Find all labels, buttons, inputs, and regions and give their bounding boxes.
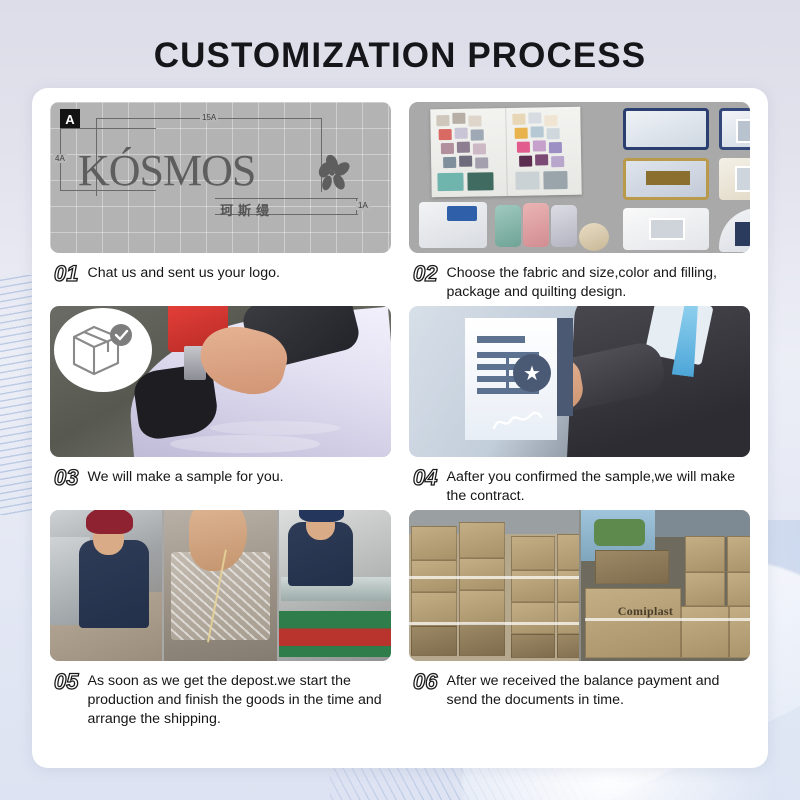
- signature-icon: [491, 410, 543, 434]
- step-caption: 06 After we received the balance payment…: [409, 661, 750, 710]
- process-step-01[interactable]: A 15A 4A 1A KÓSMOS: [50, 102, 391, 306]
- worker-sewing-photo: [50, 510, 162, 661]
- worker-red-cap: [86, 510, 133, 534]
- logo-spec-sheet-image: A 15A 4A 1A KÓSMOS: [50, 102, 391, 253]
- panel-badge-a: A: [60, 109, 80, 129]
- dim-label-width: 15A: [200, 113, 218, 122]
- step-caption: 05 As soon as we get the depost.we start…: [50, 661, 391, 729]
- container-loading-photo: Comiplast: [581, 510, 751, 661]
- sewing-sample-production-image: [50, 306, 391, 457]
- check-circle-icon: [110, 324, 132, 346]
- foliage: [594, 519, 645, 546]
- fabric-swatches-and-packaging-image: [409, 102, 750, 253]
- package-round: [719, 208, 750, 252]
- swatch-book: [430, 107, 582, 198]
- step-number: 01: [54, 262, 78, 285]
- step-caption: 01 Chat us and sent us your logo.: [50, 253, 391, 285]
- step-text: After we received the balance payment an…: [446, 670, 748, 710]
- page-title: CUSTOMIZATION PROCESS: [0, 36, 800, 76]
- box-icon: [68, 321, 138, 379]
- step-number: 05: [54, 670, 78, 693]
- dim-hline-cn-top: [215, 198, 358, 199]
- step-text: Aafter you confirmed the sample,we will …: [446, 466, 748, 506]
- fabric-roll-grey: [551, 205, 577, 247]
- step-number: 03: [54, 466, 78, 489]
- fabric-fold-2: [210, 421, 340, 435]
- package-navy-1: [623, 108, 709, 150]
- dim-label-small: 1A: [356, 201, 370, 210]
- packed-cartons-shipping-image: Comiplast: [409, 510, 750, 661]
- step-text: We will make a sample for you.: [87, 466, 283, 487]
- fabric-roll-pink: [523, 203, 549, 247]
- process-step-05[interactable]: 05 As soon as we get the depost.we start…: [50, 510, 391, 733]
- dim-label-height: 4A: [53, 154, 67, 163]
- fabric-roll-green: [495, 205, 521, 247]
- fabric-roll-beige: [579, 223, 609, 251]
- carton-brand-label: Comiplast: [618, 604, 673, 619]
- process-step-03[interactable]: 03 We will make a sample for you.: [50, 306, 391, 510]
- package-gold-1: [623, 158, 709, 200]
- step-text: Chat us and sent us your logo.: [87, 262, 279, 283]
- process-step-04[interactable]: ★ 04 Aafter you confirmed the sample,we …: [409, 306, 750, 510]
- step-caption: 04 Aafter you confirmed the sample,we wi…: [409, 457, 750, 506]
- flower-logo-icon: [312, 154, 352, 194]
- contract-seal-star-icon: ★: [513, 354, 551, 392]
- package-white: [623, 208, 709, 250]
- kosmos-logo-text: KÓSMOS: [78, 149, 255, 193]
- step-text: Choose the fabric and size,color and fil…: [446, 262, 748, 302]
- process-steps-grid: A 15A 4A 1A KÓSMOS: [50, 102, 750, 733]
- package-gold-2: [719, 158, 750, 200]
- process-step-02[interactable]: 02 Choose the fabric and size,color and …: [409, 102, 750, 306]
- step-caption: 02 Choose the fabric and size,color and …: [409, 253, 750, 302]
- worker-blue-cap: [299, 510, 344, 522]
- step-number: 04: [413, 466, 437, 489]
- box-check-badge: [54, 308, 152, 392]
- step-number: 02: [413, 262, 437, 285]
- pillow-pack: [419, 202, 487, 248]
- process-card: A 15A 4A 1A KÓSMOS: [32, 88, 768, 768]
- dim-tick-top: [60, 128, 156, 129]
- warehouse-pallets-photo: [409, 510, 579, 661]
- process-step-06[interactable]: Comiplast 06 After we received the balan…: [409, 510, 750, 733]
- contract-handshake-image: ★: [409, 306, 750, 457]
- hand-quilting-photo: [164, 510, 276, 661]
- step-number: 06: [413, 670, 437, 693]
- kosmos-logo-chinese: 珂斯缦: [220, 200, 274, 219]
- package-navy-2: [719, 108, 750, 150]
- factory-production-triptych-image: [50, 510, 391, 661]
- step-text: As soon as we get the depost.we start th…: [87, 670, 389, 729]
- conveyor-belt: [279, 611, 391, 657]
- cutting-machine-photo: [279, 510, 391, 661]
- fabric-fold-1: [170, 435, 320, 453]
- step-caption: 03 We will make a sample for you.: [50, 457, 391, 489]
